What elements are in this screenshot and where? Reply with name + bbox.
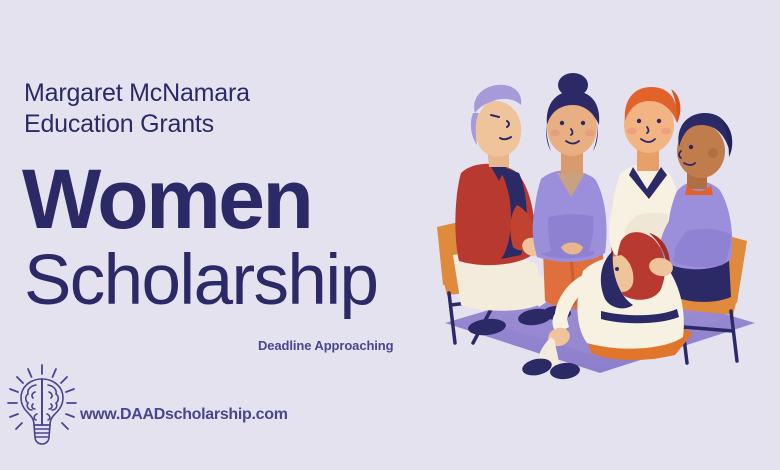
website-url: www.DAADscholarship.com xyxy=(80,406,288,424)
headline-primary: Women xyxy=(22,157,311,241)
deadline-note: Deadline Approaching xyxy=(258,338,393,353)
brain-lightbulb-logo xyxy=(6,362,78,452)
program-subtitle: Margaret McNamara Education Grants xyxy=(24,78,250,140)
poster-canvas: Margaret McNamara Education Grants Women… xyxy=(0,0,780,470)
group-discussion-illustration xyxy=(425,55,775,385)
headline-secondary: Scholarship xyxy=(24,243,377,319)
